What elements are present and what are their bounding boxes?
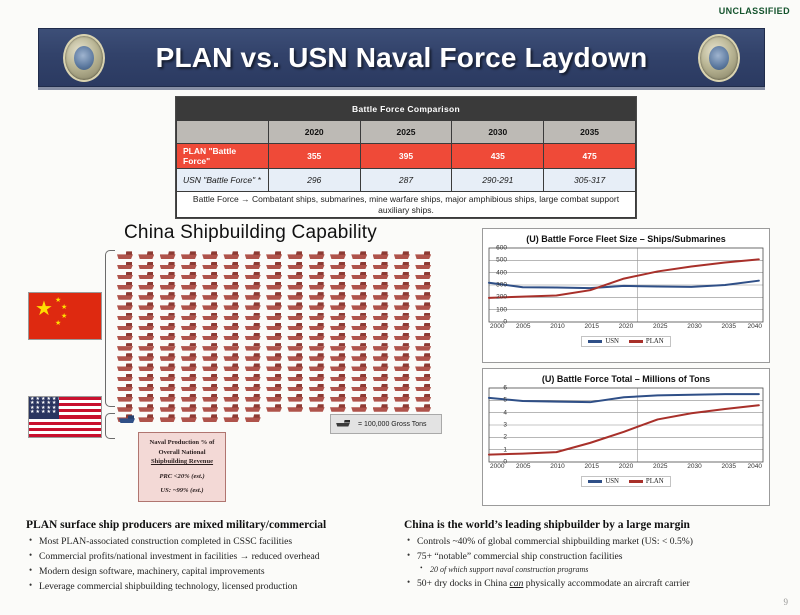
ship-icon <box>329 363 350 373</box>
ship-icon <box>201 333 222 343</box>
ship-icon <box>265 363 286 373</box>
ship-icon <box>159 322 180 332</box>
ship-icon <box>244 373 265 383</box>
ship-icon <box>159 414 180 424</box>
ship-icon <box>393 373 414 383</box>
list-item: Controls ~40% of global commercial shipb… <box>404 534 779 549</box>
ship-icon <box>414 261 435 271</box>
usn-2020-value: 296 <box>268 169 360 192</box>
ship-icon <box>159 394 180 404</box>
ship-icon <box>137 363 158 373</box>
ship-icon <box>201 322 222 332</box>
plan-2035-value: 475 <box>544 144 636 169</box>
chart-force-tonnage: (U) Battle Force Total – Millions of Ton… <box>482 368 770 506</box>
ship-icon <box>350 404 371 414</box>
bottom-left-heading: PLAN surface ship producers are mixed mi… <box>26 519 406 531</box>
ship-icon <box>116 302 137 312</box>
ship-icon <box>244 302 265 312</box>
ship-icon <box>329 333 350 343</box>
x-tick-label: 2010 <box>550 463 564 470</box>
ship-icon <box>137 353 158 363</box>
ship-icon <box>393 383 414 393</box>
ship-icon <box>201 271 222 281</box>
ship-icon <box>308 373 329 383</box>
ship-icon <box>372 271 393 281</box>
chart-fleet-size-legend: USN PLAN <box>483 336 769 347</box>
ship-icon <box>244 363 265 373</box>
ship-icon <box>201 363 222 373</box>
x-tick-label: 2000 <box>490 463 504 470</box>
header-year-2025: 2025 <box>360 121 452 144</box>
ship-icon <box>244 322 265 332</box>
ship-icon <box>286 383 307 393</box>
ship-icon <box>329 292 350 302</box>
ship-icon <box>180 302 201 312</box>
ship-icon <box>414 251 435 261</box>
x-tick-label: 2005 <box>516 463 530 470</box>
ship-icon <box>201 302 222 312</box>
ship-icon <box>159 271 180 281</box>
ship-icon <box>414 292 435 302</box>
ship-icon <box>180 363 201 373</box>
ship-icon <box>222 353 243 363</box>
ship-icon <box>329 383 350 393</box>
title-banner: PLAN vs. USN Naval Force Laydown <box>38 28 765 87</box>
chart-fleet-size-x-axis: 200020052010201520202025203020352040 <box>489 323 763 335</box>
ship-icon <box>116 312 137 322</box>
ship-icon <box>137 322 158 332</box>
naval-production-box: Naval Production % of Overall National S… <box>138 432 226 502</box>
plan-2025-value: 395 <box>360 144 452 169</box>
ship-icon <box>180 333 201 343</box>
x-tick-label: 2035 <box>722 323 736 330</box>
ship-icon <box>286 373 307 383</box>
ship-icon <box>222 343 243 353</box>
ship-icon <box>222 261 243 271</box>
plan-2020-value: 355 <box>268 144 360 169</box>
ship-icon <box>393 353 414 363</box>
y-tick-label: 4 <box>503 409 507 416</box>
ship-icon <box>308 394 329 404</box>
y-tick-label: 400 <box>496 269 507 276</box>
ship-icon <box>350 302 371 312</box>
ship-icon <box>372 292 393 302</box>
ship-icon <box>308 251 329 261</box>
ship-icon <box>414 353 435 363</box>
usn-2035-value: 305-317 <box>544 169 636 192</box>
y-tick-label: 3 <box>503 422 507 429</box>
table-title: Battle Force Comparison <box>177 98 636 121</box>
ship-icon <box>350 394 371 404</box>
classification-marking: UNCLASSIFIED <box>719 6 790 16</box>
ship-icon <box>244 292 265 302</box>
ship-icon <box>414 322 435 332</box>
list-item: Most PLAN-associated construction comple… <box>26 534 406 549</box>
ship-icon <box>137 343 158 353</box>
ship-icon <box>350 261 371 271</box>
ship-icon <box>308 343 329 353</box>
ship-icon <box>159 353 180 363</box>
ship-icon <box>286 322 307 332</box>
ship-icon <box>222 271 243 281</box>
ship-icon <box>372 251 393 261</box>
ship-icon <box>137 261 158 271</box>
ship-icon <box>286 302 307 312</box>
ship-icon <box>350 251 371 261</box>
ship-icon <box>393 322 414 332</box>
ship-icon <box>393 312 414 322</box>
ship-icon <box>116 261 137 271</box>
ship-icon <box>414 373 435 383</box>
ship-icon <box>372 383 393 393</box>
ship-icon <box>265 271 286 281</box>
ship-icon <box>393 363 414 373</box>
ship-icon <box>116 363 137 373</box>
ship-icon <box>286 363 307 373</box>
chart-fleet-size-svg <box>489 248 763 322</box>
y-tick-label: 300 <box>496 282 507 289</box>
ship-icon <box>137 312 158 322</box>
ship-icon <box>201 414 222 424</box>
ship-icon <box>265 261 286 271</box>
ship-icon <box>372 322 393 332</box>
ship-icon <box>137 282 158 292</box>
ship-icon <box>308 282 329 292</box>
ship-icon <box>180 383 201 393</box>
ship-icon <box>414 363 435 373</box>
np-title-line3: Shipbuilding Revenue <box>143 457 221 467</box>
ship-icon <box>244 353 265 363</box>
ship-icon <box>244 282 265 292</box>
header-blank-cell <box>177 121 269 144</box>
ship-icon <box>180 312 201 322</box>
ship-icon <box>116 353 137 363</box>
ship-icon <box>350 363 371 373</box>
ship-icon <box>414 312 435 322</box>
bottom-right-column: China is the world’s leading shipbuilder… <box>404 519 779 591</box>
table-footnote-row: Battle Force → Combatant ships, submarin… <box>177 192 636 218</box>
ship-icon <box>244 312 265 322</box>
ship-icon <box>159 363 180 373</box>
x-tick-label: 2005 <box>516 323 530 330</box>
table-title-row: Battle Force Comparison <box>177 98 636 121</box>
ship-icon <box>244 383 265 393</box>
china-ship-icon-grid <box>116 251 436 424</box>
ship-icon <box>201 373 222 383</box>
x-tick-label: 2030 <box>687 323 701 330</box>
y-tick-label: 1 <box>503 446 507 453</box>
china-flag-icon: ★ ★ ★ ★ ★ <box>28 292 102 340</box>
ship-icon <box>329 322 350 332</box>
x-tick-label: 2015 <box>585 323 599 330</box>
list-item: Leverage commercial shipbuilding technol… <box>26 579 406 594</box>
ship-icon <box>286 251 307 261</box>
ship-icon <box>222 302 243 312</box>
ship-icon <box>159 251 180 261</box>
chart-force-tonnage-x-axis: 200020052010201520202025203020352040 <box>489 463 763 475</box>
ship-icon <box>350 282 371 292</box>
row-label-usn: USN "Battle Force" * <box>177 169 269 192</box>
ship-icon <box>372 404 393 414</box>
ship-icon <box>180 322 201 332</box>
ship-icon <box>414 302 435 312</box>
ship-icon <box>308 322 329 332</box>
ship-icon <box>308 271 329 281</box>
ship-icon <box>286 292 307 302</box>
bottom-right-sub-bullet-list: 20 of which support naval construction p… <box>404 564 779 576</box>
ship-icon <box>159 333 180 343</box>
legend-item-plan: PLAN <box>629 338 664 345</box>
ship-icon <box>265 302 286 312</box>
ship-icon <box>372 394 393 404</box>
header-year-2035: 2035 <box>544 121 636 144</box>
ship-icon <box>180 261 201 271</box>
ship-icon <box>308 312 329 322</box>
legend-item-usn: USN <box>588 338 619 345</box>
ship-icon <box>329 312 350 322</box>
ship-icon <box>201 292 222 302</box>
ship-icon <box>414 394 435 404</box>
np-title-line2: Overall National <box>143 448 221 458</box>
ship-icon <box>201 312 222 322</box>
ship-icon <box>180 373 201 383</box>
ship-icon <box>393 251 414 261</box>
ship-icon <box>201 282 222 292</box>
ship-icon <box>222 414 243 424</box>
x-tick-label: 2020 <box>619 463 633 470</box>
ship-icon <box>180 414 201 424</box>
ship-icon <box>414 333 435 343</box>
ship-icon <box>393 404 414 414</box>
ship-icon <box>265 343 286 353</box>
ship-icon <box>116 343 137 353</box>
plan-2030-value: 435 <box>452 144 544 169</box>
ship-icon <box>265 282 286 292</box>
x-tick-label: 2010 <box>550 323 564 330</box>
ship-icon <box>222 251 243 261</box>
ship-icon <box>286 312 307 322</box>
ship-icon <box>116 333 137 343</box>
ship-icon <box>180 404 201 414</box>
ship-icon <box>372 353 393 363</box>
ship-icon <box>286 271 307 281</box>
table-row-usn: USN "Battle Force" * 296 287 290-291 305… <box>177 169 636 192</box>
ship-icon <box>265 404 286 414</box>
ship-icon <box>414 404 435 414</box>
ship-icon <box>350 343 371 353</box>
ship-icon <box>265 292 286 302</box>
ship-icon <box>265 394 286 404</box>
ship-icon <box>137 373 158 383</box>
x-tick-label: 2035 <box>722 463 736 470</box>
ship-icon <box>265 333 286 343</box>
ship-icon <box>222 292 243 302</box>
y-tick-label: 600 <box>496 245 507 252</box>
chart-fleet-size-y-axis: 0100200300400500600 <box>485 248 507 322</box>
list-item: 75+ “notable” commercial ship constructi… <box>404 549 779 564</box>
ship-icon <box>222 312 243 322</box>
ship-icon <box>329 271 350 281</box>
ship-icon <box>159 282 180 292</box>
ship-icon <box>372 312 393 322</box>
ship-icon <box>414 271 435 281</box>
ship-icon <box>265 322 286 332</box>
ship-icon <box>222 394 243 404</box>
us-flag-icon: ★★★★★★★★★★★★★★★★★★★★★★ <box>28 396 102 438</box>
ship-icon <box>244 271 265 281</box>
ship-icon <box>372 302 393 312</box>
navy-seal-right-icon <box>698 34 740 82</box>
ship-icon <box>372 333 393 343</box>
bottom-right-bullet-list-2: 50+ dry docks in China can physically ac… <box>404 576 779 591</box>
ship-icon <box>116 404 137 414</box>
ship-icon <box>286 282 307 292</box>
ship-icon <box>350 312 371 322</box>
ship-icon <box>329 282 350 292</box>
ship-icon <box>180 292 201 302</box>
page-title: PLAN vs. USN Naval Force Laydown <box>156 42 648 74</box>
ship-icon <box>350 322 371 332</box>
ship-icon <box>244 343 265 353</box>
ship-icon <box>308 261 329 271</box>
ship-icon <box>329 343 350 353</box>
ship-icon <box>244 261 265 271</box>
ship-icon <box>244 414 265 424</box>
np-us-value: US: ~99% (est.) <box>143 486 221 496</box>
ship-icon <box>372 261 393 271</box>
chart-force-tonnage-plot: 0123456 <box>489 388 763 462</box>
ship-icon <box>222 404 243 414</box>
header-year-2030: 2030 <box>452 121 544 144</box>
chart-force-tonnage-legend: USN PLAN <box>483 476 769 487</box>
ship-icon <box>244 251 265 261</box>
ship-icon <box>201 394 222 404</box>
x-tick-label: 2000 <box>490 323 504 330</box>
ship-icon <box>372 282 393 292</box>
ship-icon <box>265 383 286 393</box>
ship-icon <box>372 343 393 353</box>
ship-icon <box>201 404 222 414</box>
legend-item-usn: USN <box>588 478 619 485</box>
ship-icon <box>137 271 158 281</box>
y-tick-label: 6 <box>503 385 507 392</box>
x-tick-label: 2025 <box>653 463 667 470</box>
ship-icon <box>265 312 286 322</box>
ship-icon <box>414 383 435 393</box>
header-year-2020: 2020 <box>268 121 360 144</box>
us-bracket <box>105 413 115 439</box>
ship-icon <box>350 271 371 281</box>
list-item: 20 of which support naval construction p… <box>404 564 779 576</box>
row-label-plan: PLAN "Battle Force" <box>177 144 269 169</box>
gross-tons-key: = 100,000 Gross Tons <box>330 414 442 434</box>
navy-seal-left-icon <box>63 34 105 82</box>
ship-icon <box>201 251 222 261</box>
ship-icon <box>137 394 158 404</box>
x-tick-label: 2020 <box>619 323 633 330</box>
ship-icon <box>350 353 371 363</box>
ship-icon <box>159 383 180 393</box>
ship-icon <box>308 404 329 414</box>
chart-force-tonnage-y-axis: 0123456 <box>485 388 507 462</box>
page-number: 9 <box>784 597 789 607</box>
ship-icon <box>329 302 350 312</box>
ship-icon <box>244 333 265 343</box>
ship-icon <box>372 363 393 373</box>
ship-icon <box>286 261 307 271</box>
ship-icon <box>201 343 222 353</box>
ship-icon <box>159 292 180 302</box>
ship-icon <box>265 353 286 363</box>
ship-icon <box>393 271 414 281</box>
ship-icon <box>137 302 158 312</box>
list-item: Commercial profits/national investment i… <box>26 549 406 564</box>
ship-icon <box>180 271 201 281</box>
ship-icon <box>137 251 158 261</box>
np-prc-value: PRC <20% (est.) <box>143 472 221 482</box>
x-tick-label: 2030 <box>687 463 701 470</box>
ship-icon <box>222 282 243 292</box>
ship-icon <box>286 333 307 343</box>
ship-icon <box>393 292 414 302</box>
ship-icon <box>329 353 350 363</box>
battle-force-comparison-table: Battle Force Comparison 2020 2025 2030 2… <box>175 96 637 219</box>
ship-icon <box>393 282 414 292</box>
bottom-right-heading: China is the world’s leading shipbuilder… <box>404 519 779 531</box>
slide-root: UNCLASSIFIED PLAN vs. USN Naval Force La… <box>0 0 800 615</box>
ship-icon <box>393 333 414 343</box>
ship-icon <box>308 292 329 302</box>
ship-icon <box>159 302 180 312</box>
ship-icon <box>308 333 329 343</box>
chart-fleet-size-plot: 0100200300400500600 <box>489 248 763 322</box>
ship-icon <box>393 302 414 312</box>
ship-icon <box>414 343 435 353</box>
table-footnote: Battle Force → Combatant ships, submarin… <box>177 192 636 218</box>
shipbuilding-heading: China Shipbuilding Capability <box>124 222 377 244</box>
ship-icon <box>350 383 371 393</box>
ship-icon <box>286 343 307 353</box>
ship-icon <box>393 343 414 353</box>
ship-icon <box>137 383 158 393</box>
ship-icon <box>414 282 435 292</box>
x-tick-label: 2015 <box>585 463 599 470</box>
ship-icon <box>336 420 354 429</box>
ship-icon <box>222 333 243 343</box>
ship-icon <box>159 404 180 414</box>
ship-icon <box>180 343 201 353</box>
ship-icon <box>159 312 180 322</box>
emphasis-word: can <box>510 578 524 589</box>
ship-icon <box>286 404 307 414</box>
ship-icon <box>201 383 222 393</box>
ship-icon <box>329 394 350 404</box>
table-row-plan: PLAN "Battle Force" 355 395 435 475 <box>177 144 636 169</box>
ship-icon <box>116 282 137 292</box>
bottom-left-column: PLAN surface ship producers are mixed mi… <box>26 519 406 595</box>
np-title-line1: Naval Production % of <box>143 438 221 448</box>
china-bracket <box>105 250 115 407</box>
ship-icon <box>329 373 350 383</box>
list-item: 50+ dry docks in China can physically ac… <box>404 576 779 591</box>
ship-icon <box>308 302 329 312</box>
ship-icon <box>159 373 180 383</box>
ship-icon <box>116 292 137 302</box>
ship-icon <box>116 251 137 261</box>
ship-icon <box>286 353 307 363</box>
chart-fleet-size: (U) Battle Force Fleet Size – Ships/Subm… <box>482 228 770 363</box>
ship-icon <box>137 414 158 424</box>
